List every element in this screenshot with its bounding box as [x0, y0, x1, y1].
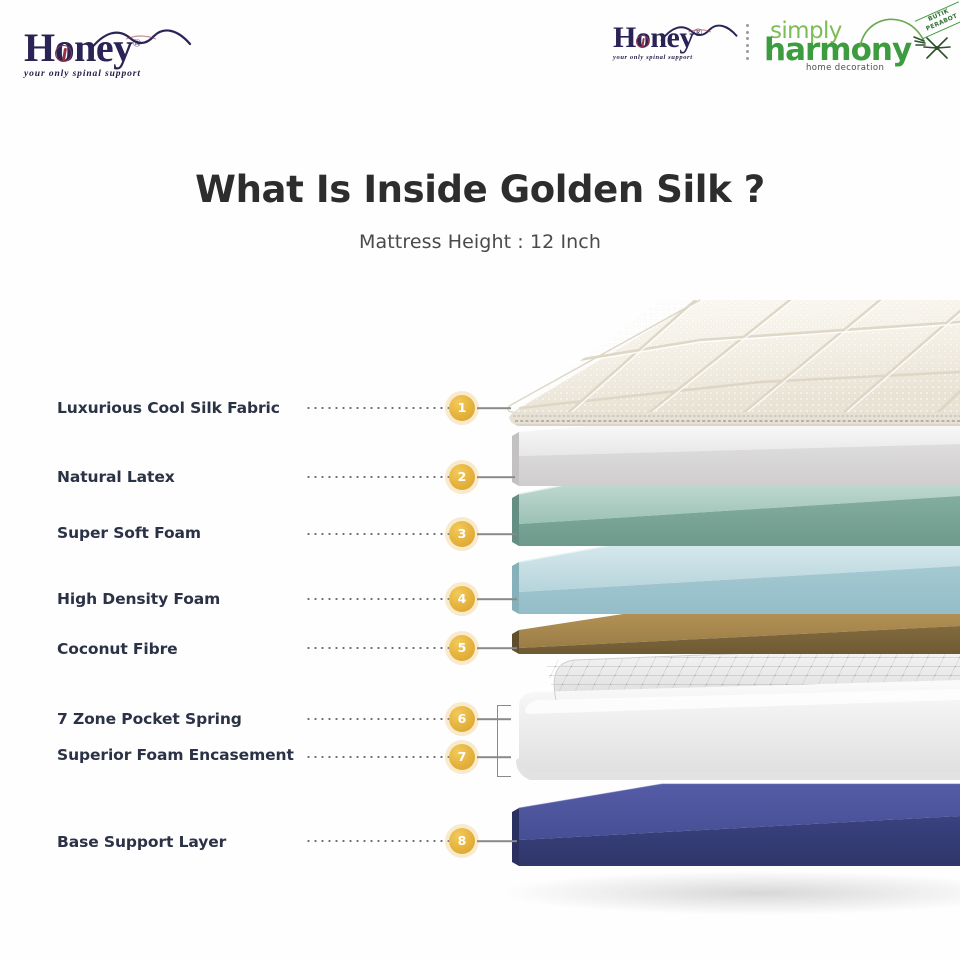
honey-tagline-small: your only spinal support [613, 54, 733, 61]
connector-tick-3 [477, 533, 517, 535]
layer-high-density-foam [512, 536, 960, 614]
layer-natural-latex [512, 420, 960, 486]
spine-icon [55, 45, 72, 62]
honey-logo-primary: Honey® your only spinal support [24, 28, 194, 90]
layer-marker-8[interactable]: 8 [449, 828, 475, 854]
leader-line-4 [305, 598, 450, 600]
page-title: What Is Inside Golden Silk ? [0, 168, 960, 211]
layer-marker-2[interactable]: 2 [449, 464, 475, 490]
layer-label-1: Luxurious Cool Silk Fabric [57, 399, 280, 417]
leader-line-2 [305, 476, 450, 478]
page-subtitle: Mattress Height : 12 Inch [0, 231, 960, 253]
spring-encasement-bracket [497, 705, 511, 777]
infographic-canvas: Honey® your only spinal support Honey® [0, 0, 960, 960]
layer-base-support [512, 784, 960, 866]
layer-label-2: Natural Latex [57, 468, 175, 486]
layer-label-6: 7 Zone Pocket Spring [57, 710, 242, 728]
partner-logo-group: Honey® your only spinal support simply h… [613, 8, 952, 76]
honey-tagline: your only spinal support [24, 69, 194, 79]
connector-tick-2 [477, 476, 515, 478]
connector-tick-5 [477, 647, 517, 649]
honey-logo-secondary: Honey® your only spinal support [613, 23, 733, 61]
butik-perabot-badge: BUTIK PERABOT [917, 3, 960, 43]
leader-line-7 [305, 756, 450, 758]
layer-label-7: Superior Foam Encasement [57, 746, 294, 764]
connector-tick-1 [477, 407, 511, 409]
layer-marker-3[interactable]: 3 [449, 521, 475, 547]
honey-arc-icon [660, 22, 738, 42]
harmony-subtitle: home decoration [806, 63, 884, 73]
connector-tick-4 [477, 598, 517, 600]
honey-arc-icon [88, 26, 192, 52]
layer-marker-6[interactable]: 6 [449, 706, 475, 732]
leader-line-8 [305, 840, 450, 842]
layer-super-soft-foam [512, 466, 960, 546]
layer-marker-7[interactable]: 7 [449, 744, 475, 770]
spine-icon [636, 35, 649, 48]
leader-line-5 [305, 647, 450, 649]
leader-line-6 [305, 718, 450, 720]
layer-pocket-spring [516, 645, 960, 780]
layer-marker-5[interactable]: 5 [449, 635, 475, 661]
layer-silk-fabric [505, 295, 960, 426]
leader-line-1 [305, 407, 450, 409]
layer-label-3: Super Soft Foam [57, 524, 201, 542]
leader-line-3 [305, 533, 450, 535]
logo-divider-dots [743, 24, 752, 60]
layer-coconut-fibre [512, 608, 960, 654]
layer-label-4: High Density Foam [57, 590, 220, 608]
layer-label-8: Base Support Layer [57, 833, 226, 851]
layer-marker-4[interactable]: 4 [449, 586, 475, 612]
connector-tick-8 [477, 840, 517, 842]
layer-marker-1[interactable]: 1 [449, 395, 475, 421]
layer-label-5: Coconut Fibre [57, 640, 178, 658]
simply-harmony-logo: simply harmony home decoration [762, 11, 952, 73]
